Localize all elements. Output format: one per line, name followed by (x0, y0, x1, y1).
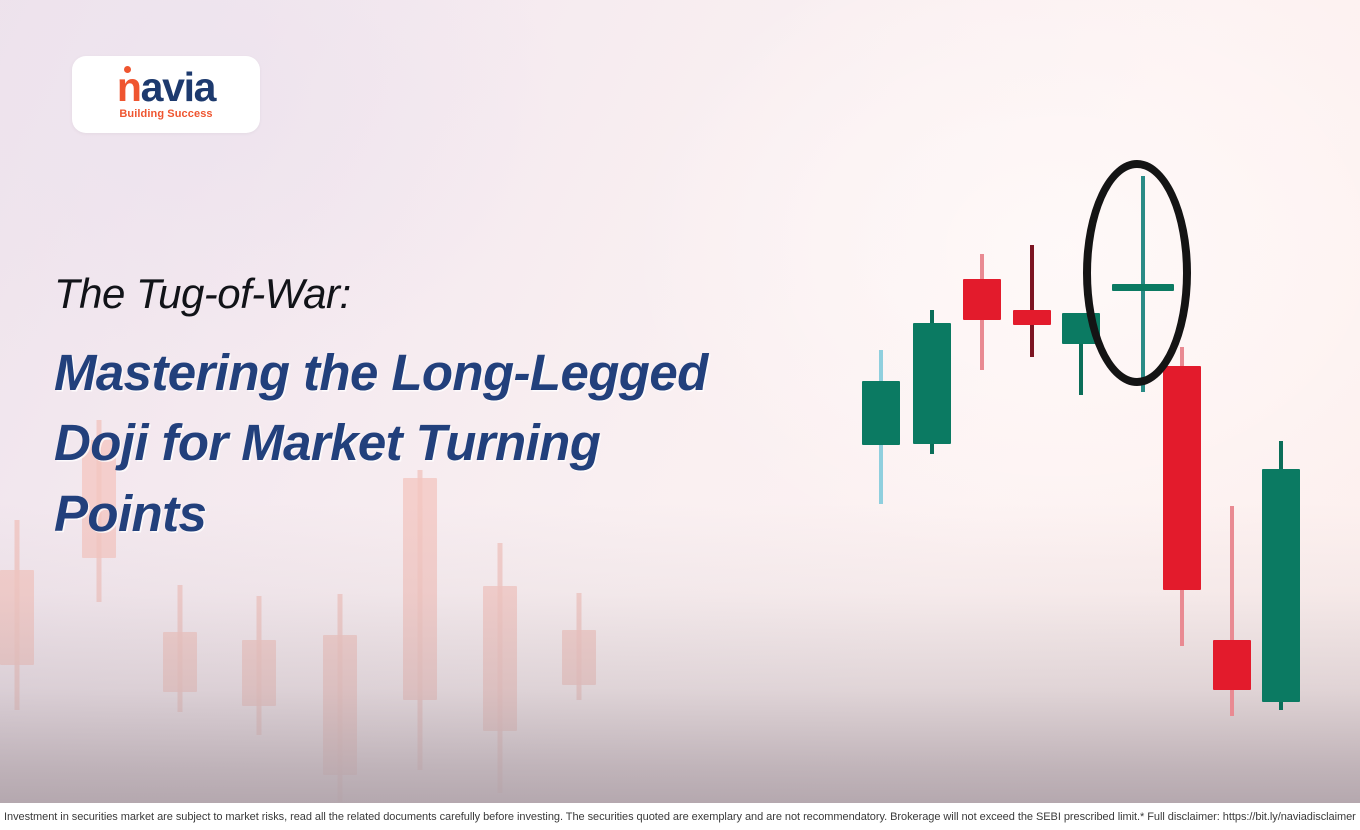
candlestick-body (1013, 310, 1051, 325)
headline-main: Mastering the Long-Legged Doji for Marke… (54, 338, 884, 549)
candlestick-wick (1030, 245, 1034, 357)
headline-eyebrow: The Tug-of-War: (54, 272, 884, 316)
candlestick-bear (1213, 506, 1251, 716)
candlestick-bear (1163, 347, 1201, 646)
poster-canvas: n avia Building Success The Tug-of-War: … (0, 0, 1360, 830)
candlestick-bear (1013, 245, 1051, 357)
logo-letter-n-wrap: n (117, 69, 141, 107)
candlestick-body (913, 323, 951, 444)
headline-line-2: Doji for Market Turning (54, 408, 884, 478)
logo-wordmark: n avia (117, 69, 215, 107)
candlestick-body (1262, 469, 1300, 702)
headline-block: The Tug-of-War: Mastering the Long-Legge… (54, 272, 884, 549)
candlestick-body (1163, 366, 1201, 590)
footer-disclaimer-bar: Investment in securities market are subj… (0, 803, 1360, 830)
logo-tagline: Building Success (119, 108, 212, 120)
candlestick-body (1213, 640, 1251, 690)
candlestick-bull (913, 310, 951, 454)
logo-dot-icon (124, 66, 131, 73)
logo-letters-avia: avia (141, 69, 216, 107)
candlestick-bull (1262, 441, 1300, 710)
headline-line-3: Points (54, 479, 884, 549)
navia-logo[interactable]: n avia Building Success (72, 56, 260, 133)
candlestick-body (963, 279, 1001, 320)
doji-highlight-ellipse-icon (1083, 160, 1191, 386)
candlestick-bear (963, 254, 1001, 370)
headline-line-1: Mastering the Long-Legged (54, 338, 884, 408)
footer-disclaimer-text: Investment in securities market are subj… (0, 811, 1356, 823)
